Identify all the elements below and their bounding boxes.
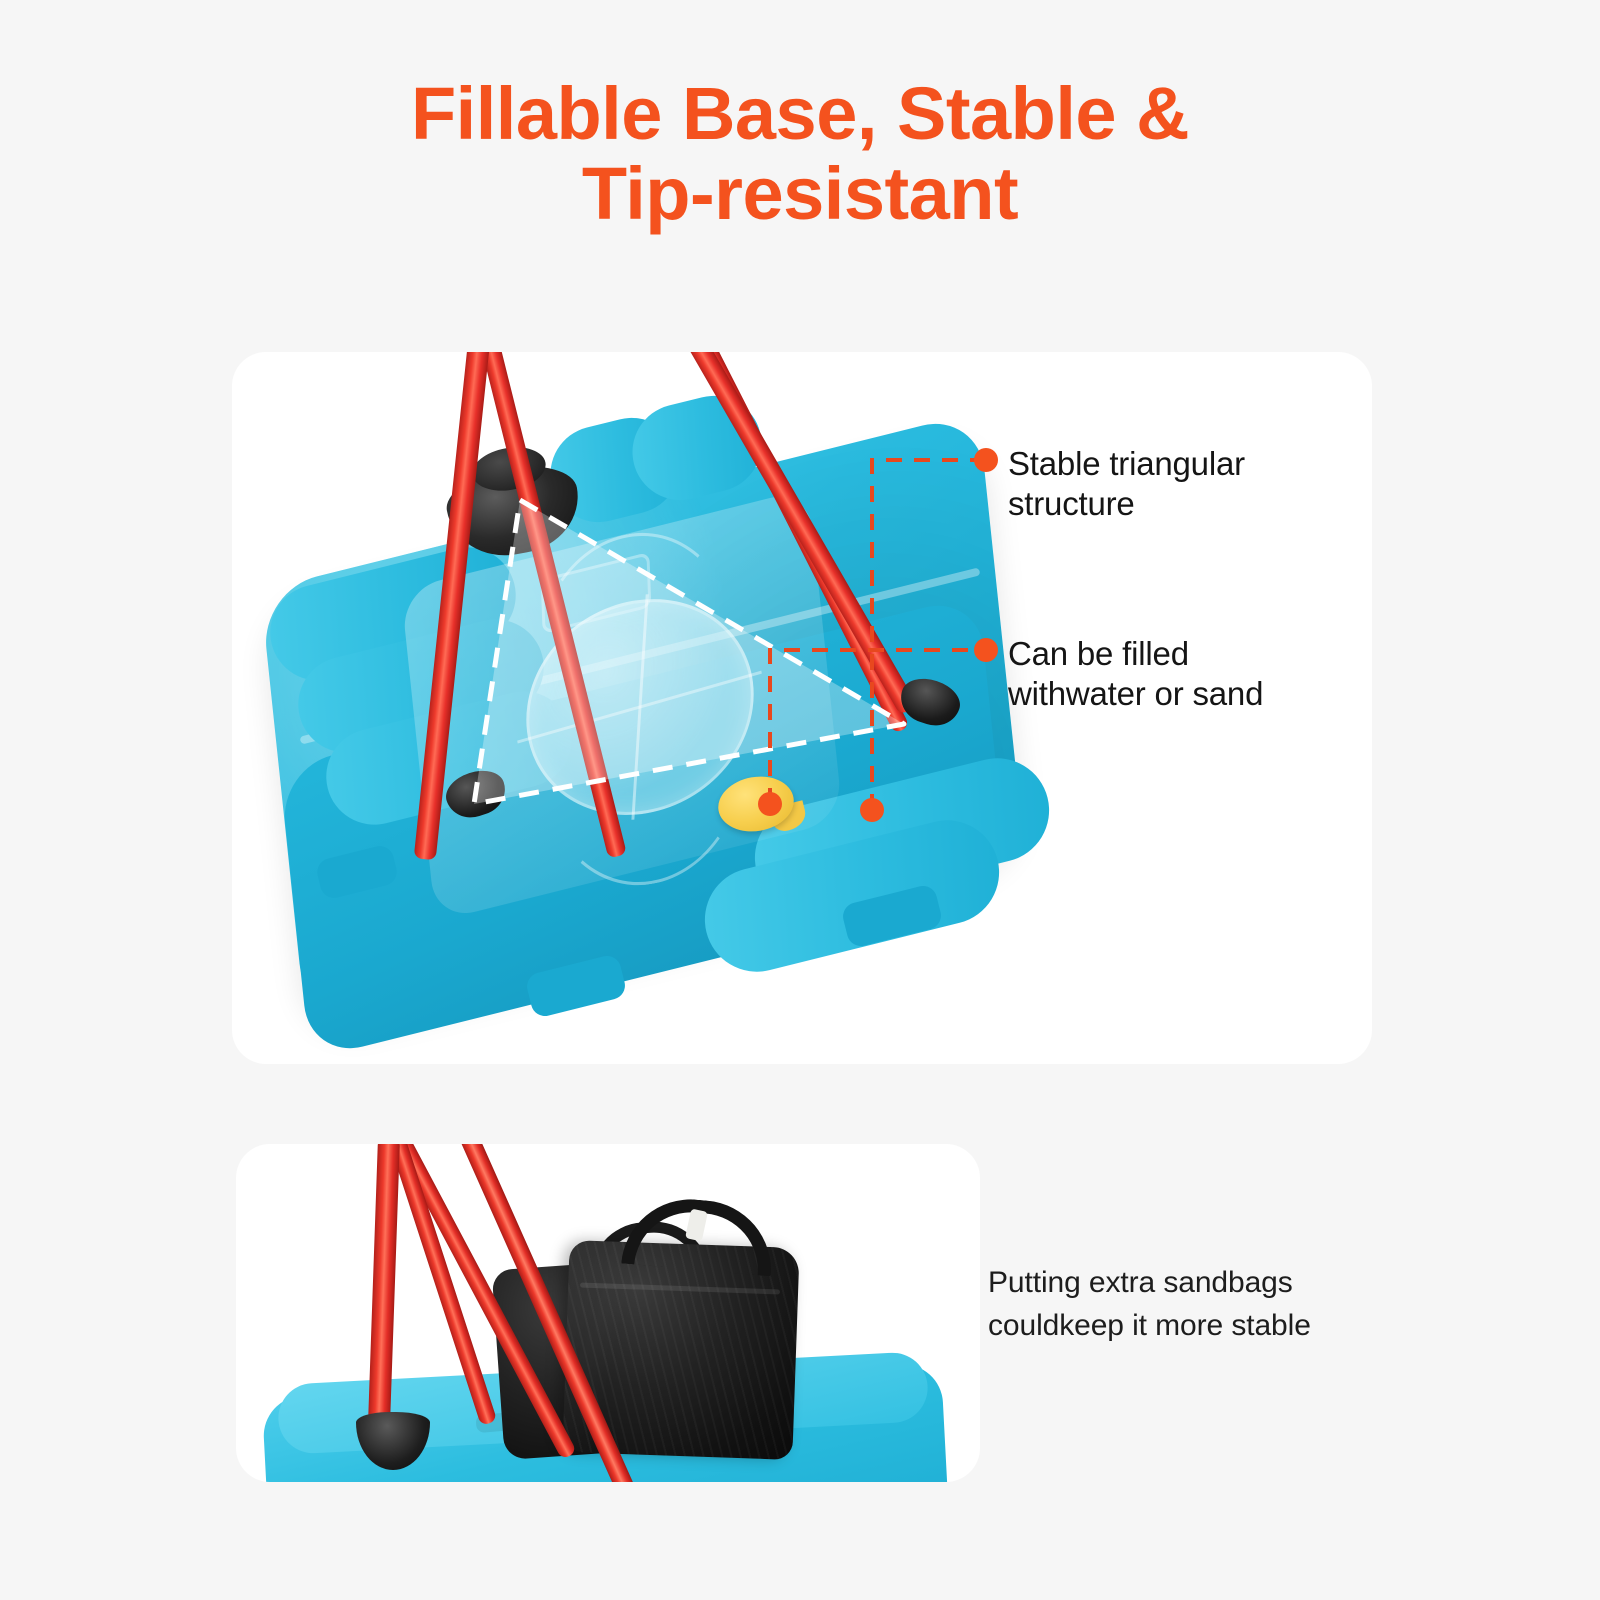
callout-line-1: Stable triangular bbox=[1008, 444, 1388, 484]
callout-stable-triangular-structure: Stable triangular structure bbox=[1008, 444, 1388, 525]
sandbag-note-line-1: Putting extra sandbags bbox=[988, 1262, 1388, 1305]
sandbag-panel bbox=[236, 1144, 980, 1482]
page-title-line-1: Fillable Base, Stable & bbox=[0, 74, 1600, 154]
callout-can-be-filled: Can be filled withwater or sand bbox=[1008, 634, 1408, 715]
page-title-line-2: Tip-resistant bbox=[0, 154, 1600, 234]
sandbag-illustration bbox=[236, 1144, 980, 1482]
callout-line-1: Can be filled bbox=[1008, 634, 1408, 674]
sandbag-note-line-2: couldkeep it more stable bbox=[988, 1305, 1388, 1348]
sandbag-note: Putting extra sandbags couldkeep it more… bbox=[988, 1262, 1388, 1347]
callout-line-2: withwater or sand bbox=[1008, 674, 1408, 714]
page-title: Fillable Base, Stable & Tip-resistant bbox=[0, 74, 1600, 234]
callout-line-2: structure bbox=[1008, 484, 1388, 524]
